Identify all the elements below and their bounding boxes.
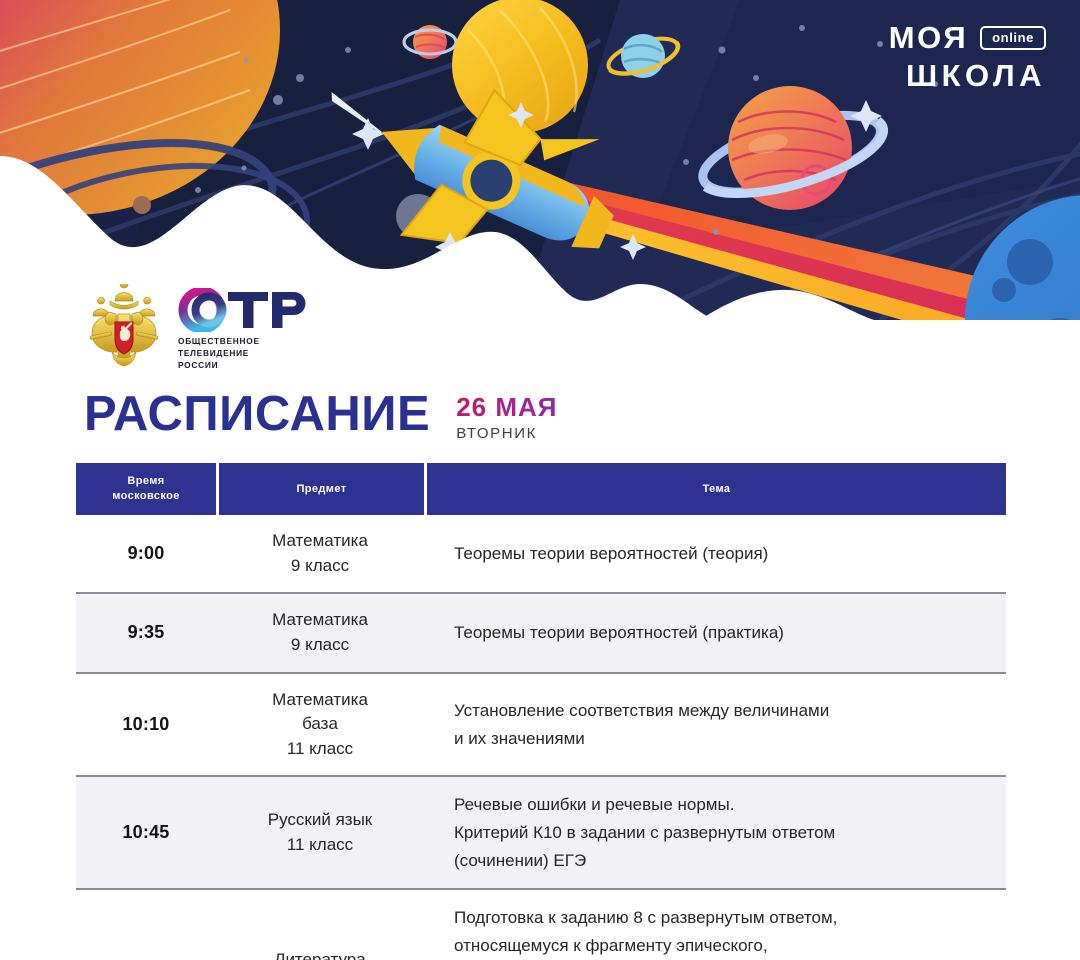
otr-subtitle-line-2: ТЕЛЕВИДЕНИЕ [178,348,306,360]
otr-text-block: ОБЩЕСТВЕННОЕ ТЕЛЕВИДЕНИЕ РОССИИ [178,284,306,371]
weekday-value: ВТОРНИК [456,425,557,442]
table-row[interactable]: 11:20 Литература 11 класс Подготовка к з… [76,890,1006,960]
table-header-row: Время московское Предмет Тема [76,463,1006,515]
column-header-time: Время московское [76,463,216,515]
date-value: 26 МАЯ [456,394,557,420]
table-row[interactable]: 10:45 Русский язык 11 класс Речевые ошиб… [76,777,1006,890]
topic-line: Речевые ошибки и речевые нормы. [454,791,988,819]
topic-line: Подготовка к заданию 8 с развернутым отв… [454,904,988,932]
brand-logo-moya-shkola: МОЯ online ШКОЛА [889,22,1046,91]
cell-time: 9:35 [76,594,216,671]
column-header-topic: Тема [427,463,1006,515]
otr-subtitle-line-3: РОССИИ [178,360,306,372]
brand-word-shkola: ШКОЛА [889,60,1046,91]
cell-subject: Литература 11 класс [216,890,424,960]
cell-subject: Русский язык 11 класс [216,777,424,888]
table-row[interactable]: 9:00 Математика 9 класс Теоремы теории в… [76,515,1006,594]
otr-wordmark-icon [178,288,306,332]
topic-line: Теоремы теории вероятностей (теория) [454,540,988,568]
column-header-subject: Предмет [219,463,424,515]
subject-line: Математика [216,608,424,633]
otr-logo-block: ОБЩЕСТВЕННОЕ ТЕЛЕВИДЕНИЕ РОССИИ [88,284,306,371]
otr-subtitle-line-1: ОБЩЕСТВЕННОЕ [178,336,306,348]
brand-line-1: МОЯ online [889,22,1046,53]
cell-subject: Математика 9 класс [216,594,424,671]
topic-line: (сочинении) ЕГЭ [454,847,988,875]
cell-time: 10:10 [76,674,216,776]
column-header-time-line-2: московское [112,489,180,504]
schedule-table: Время московское Предмет Тема 9:00 Матем… [76,463,1006,960]
cell-time: 11:20 [76,890,216,960]
cell-topic: Речевые ошибки и речевые нормы. Критерий… [424,777,1006,888]
cell-subject: Математика база 11 класс [216,674,424,776]
date-block: 26 МАЯ ВТОРНИК [456,390,557,442]
brand-badge-online: online [980,26,1046,50]
topic-line: Критерий К10 в задании с развернутым отв… [454,819,988,847]
cell-subject: Математика 9 класс [216,515,424,592]
brand-word-moya: МОЯ [889,22,968,53]
otr-subtitle: ОБЩЕСТВЕННОЕ ТЕЛЕВИДЕНИЕ РОССИИ [178,336,306,371]
topic-line: Установление соответствия между величина… [454,697,988,725]
topic-line: относящемуся к фрагменту эпического, [454,932,988,960]
subject-line: база [216,712,424,737]
subject-line: Русский язык [216,808,424,833]
coat-of-arms-icon [88,284,160,370]
schedule-poster: МОЯ online ШКОЛА [0,0,1080,960]
subject-line: Математика [216,688,424,713]
page-title: РАСПИСАНИЕ [84,390,430,439]
small-brown-planet [133,196,151,214]
cell-topic: Теоремы теории вероятностей (практика) [424,594,1006,671]
cell-time: 9:00 [76,515,216,592]
page-title-row: РАСПИСАНИЕ 26 МАЯ ВТОРНИК [84,390,557,442]
table-body: 9:00 Математика 9 класс Теоремы теории в… [76,515,1006,960]
cell-topic: Подготовка к заданию 8 с развернутым отв… [424,890,1006,960]
subject-line: 11 класс [216,737,424,762]
subject-line: 11 класс [216,833,424,858]
column-header-time-line-1: Время [112,474,180,489]
table-row[interactable]: 9:35 Математика 9 класс Теоремы теории в… [76,594,1006,673]
subject-line: 9 класс [216,554,424,579]
subject-line: Математика [216,529,424,554]
topic-line: Теоремы теории вероятностей (практика) [454,619,988,647]
subject-line: Литература [216,948,424,960]
cell-topic: Теоремы теории вероятностей (теория) [424,515,1006,592]
cell-topic: Установление соответствия между величина… [424,674,1006,776]
table-row[interactable]: 10:10 Математика база 11 класс Установле… [76,674,1006,778]
cell-time: 10:45 [76,777,216,888]
topic-line: и их значениями [454,725,988,753]
subject-line: 9 класс [216,633,424,658]
